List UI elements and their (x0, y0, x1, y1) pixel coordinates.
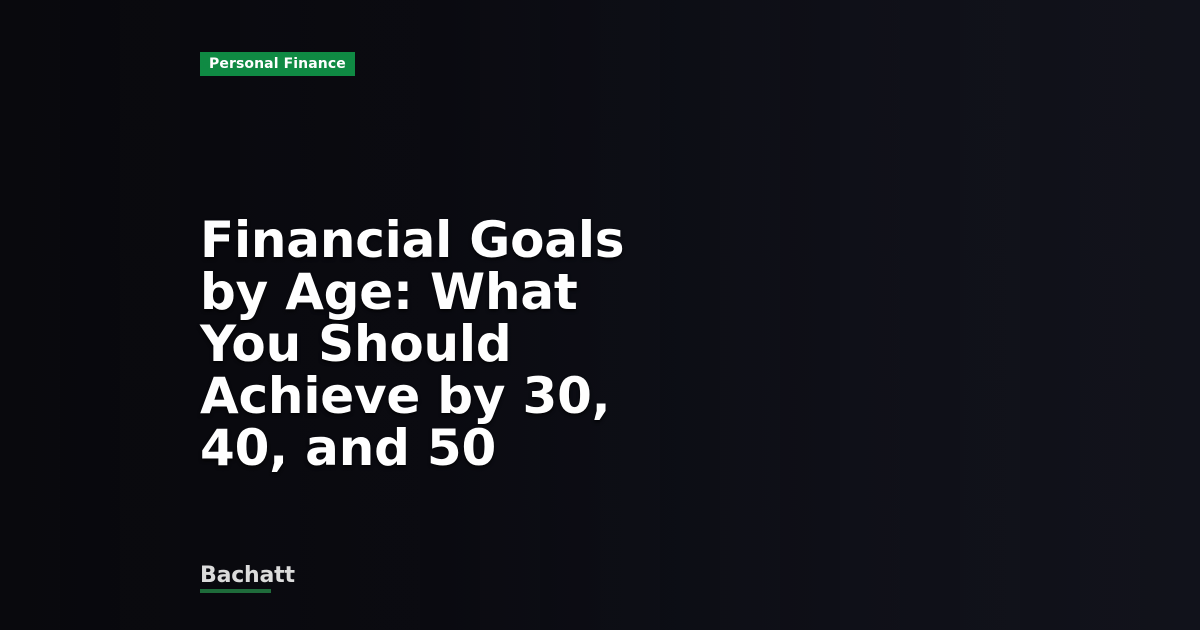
brand-logo[interactable]: Bachatt (200, 563, 295, 593)
page-title: Financial Goals by Age: What You Should … (200, 214, 670, 474)
category-badge[interactable]: Personal Finance (200, 52, 355, 76)
social-share-card: Personal Finance Financial Goals by Age:… (0, 0, 1200, 630)
brand-name: Bachatt (200, 563, 295, 589)
brand-underline-accent (200, 589, 271, 593)
card-content: Personal Finance Financial Goals by Age:… (200, 0, 960, 630)
